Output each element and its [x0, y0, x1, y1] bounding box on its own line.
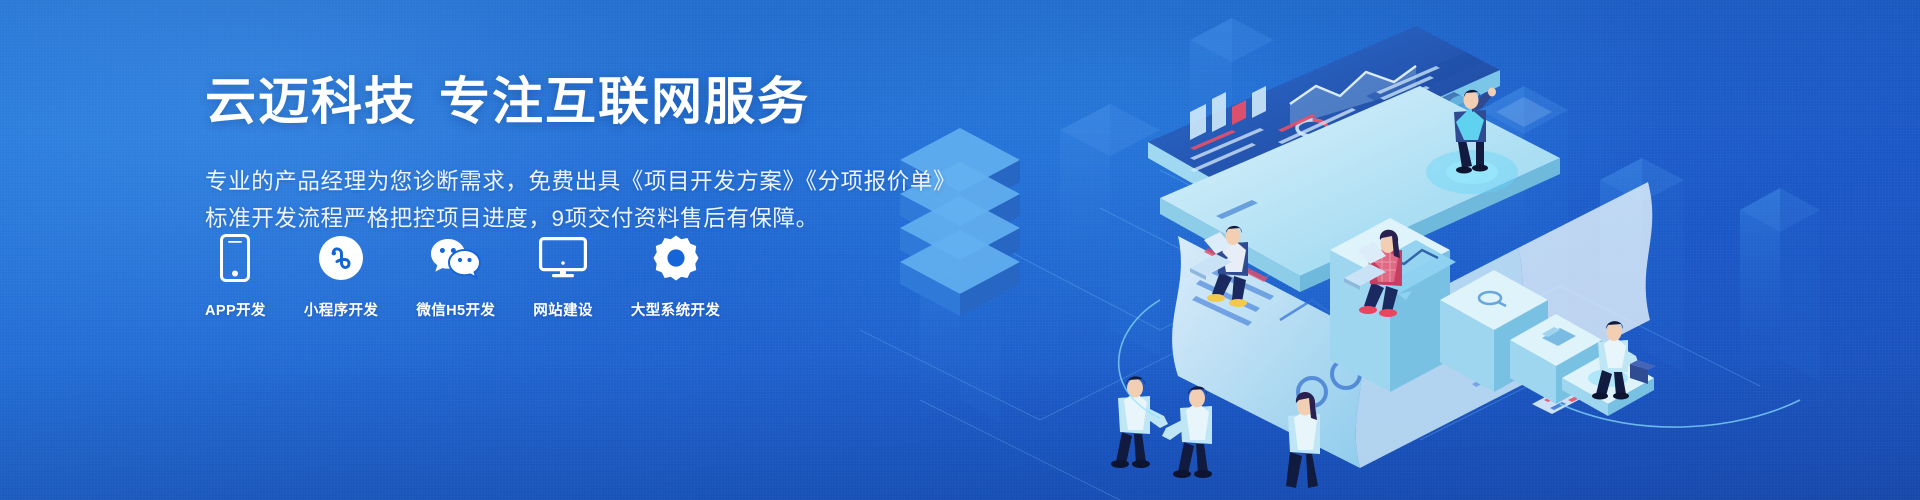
- service-item-large-system[interactable]: 大型系统开发: [631, 232, 720, 320]
- service-list: APP开发 小程序开发: [205, 232, 720, 320]
- person-woman-laptop: [1344, 230, 1402, 317]
- folder-icon: [1542, 327, 1576, 346]
- service-label: 微信H5开发: [416, 299, 495, 320]
- chart-bubble: [1358, 240, 1456, 300]
- subtitle-line-1: 专业的产品经理为您诊断需求，免费出具《项目开发方案》《分项报价单》: [205, 164, 905, 200]
- hero-banner: 云迈科技专注互联网服务 专业的产品经理为您诊断需求，免费出具《项目开发方案》《分…: [0, 0, 1920, 500]
- headline-tagline: 专注互联网服务: [439, 73, 810, 130]
- data-ribbon: [1172, 182, 1652, 468]
- service-item-app[interactable]: APP开发: [205, 232, 266, 320]
- service-label: 网站建设: [533, 299, 593, 320]
- city-skyline: [920, 18, 1820, 422]
- person-pair-talking: [1111, 376, 1212, 478]
- screen-charts: [1190, 52, 1484, 172]
- ribbon-donuts: [1298, 306, 1462, 406]
- person-standing-right: [1286, 392, 1320, 488]
- service-label: 大型系统开发: [631, 299, 720, 320]
- person-sitting-laptop: [1190, 226, 1248, 307]
- person-walking-briefcase: [1592, 321, 1656, 399]
- service-item-miniprogram[interactable]: 小程序开发: [304, 232, 379, 320]
- wechat-icon: [430, 232, 482, 284]
- touch-glow: [1449, 95, 1481, 113]
- isometric-tech-illustration: [860, 0, 1920, 500]
- staircase-blocks: [1330, 218, 1654, 416]
- mini-program-icon: [318, 232, 364, 284]
- tablet-platform: [1160, 86, 1560, 292]
- ribbon-grid: [1532, 368, 1620, 414]
- hero-copy: 云迈科技专注互联网服务 专业的产品经理为您诊断需求，免费出具《项目开发方案》《分…: [205, 72, 905, 237]
- gear-icon: [653, 232, 699, 284]
- service-label: 小程序开发: [304, 299, 379, 320]
- headline-brand: 云迈科技: [205, 73, 417, 130]
- person-presenting: [1454, 88, 1496, 174]
- service-label: APP开发: [205, 299, 266, 320]
- isometric-grid: [860, 170, 1760, 500]
- server-stack: [900, 128, 1020, 316]
- monitor-icon: [539, 232, 587, 284]
- connector-lines: [1119, 300, 1800, 427]
- magnifier-icon: [1479, 292, 1506, 306]
- hero-subtitle: 专业的产品经理为您诊断需求，免费出具《项目开发方案》《分项报价单》 标准开发流程…: [205, 164, 905, 237]
- service-item-wechat-h5[interactable]: 微信H5开发: [416, 232, 495, 320]
- mobile-phone-icon: [220, 232, 250, 284]
- service-item-website[interactable]: 网站建设: [533, 232, 593, 320]
- dashboard-screen: [1148, 26, 1500, 206]
- page-title: 云迈科技专注互联网服务: [205, 72, 905, 132]
